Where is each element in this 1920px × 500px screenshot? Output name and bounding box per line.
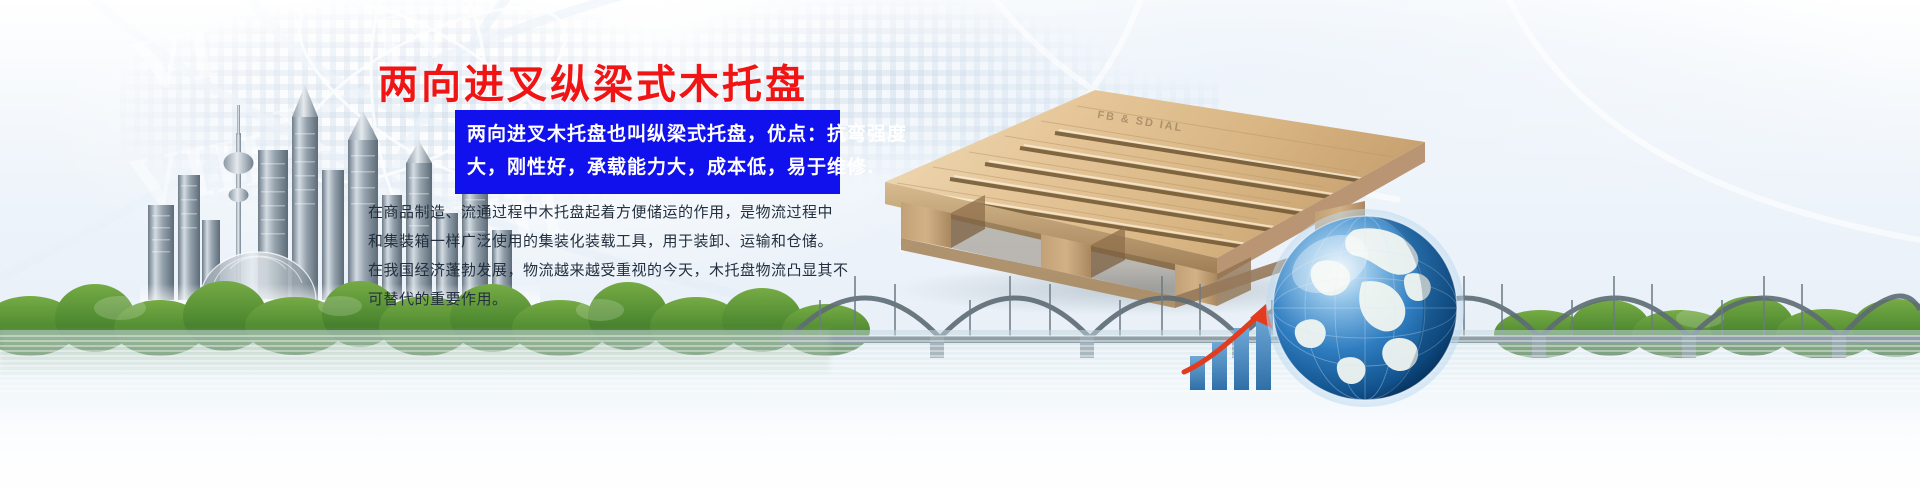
body-paragraph: 在商品制造、流通过程中木托盘起着方便储运的作用，是物流过程中 和集装箱一样广泛使… (368, 198, 848, 314)
highlight-line-2: 大，刚性好，承载能力大，成本低，易于维修. (467, 151, 830, 184)
highlight-line-1: 两向进叉木托盘也叫纵梁式托盘，优点：抗弯强度 (467, 118, 830, 151)
page-title: 两向进叉纵梁式木托盘 (378, 52, 808, 110)
water-sheen-lines (0, 332, 1920, 392)
body-line-1: 在商品制造、流通过程中木托盘起着方便储运的作用，是物流过程中 (368, 198, 848, 227)
body-line-2: 和集装箱一样广泛使用的集装化装载工具，用于装卸、运输和仓储。 (368, 227, 848, 256)
body-line-4: 可替代的重要作用。 (368, 285, 848, 314)
body-line-3: 在我国经济蓬勃发展，物流越来越受重视的今天，木托盘物流凸显其不 (368, 256, 848, 285)
highlight-callout-box: 两向进叉木托盘也叫纵梁式托盘，优点：抗弯强度 大，刚性好，承载能力大，成本低，易… (455, 110, 840, 194)
product-banner: VI VIII IV XII X (0, 0, 1920, 500)
globe-earth-icon (1258, 208, 1473, 423)
